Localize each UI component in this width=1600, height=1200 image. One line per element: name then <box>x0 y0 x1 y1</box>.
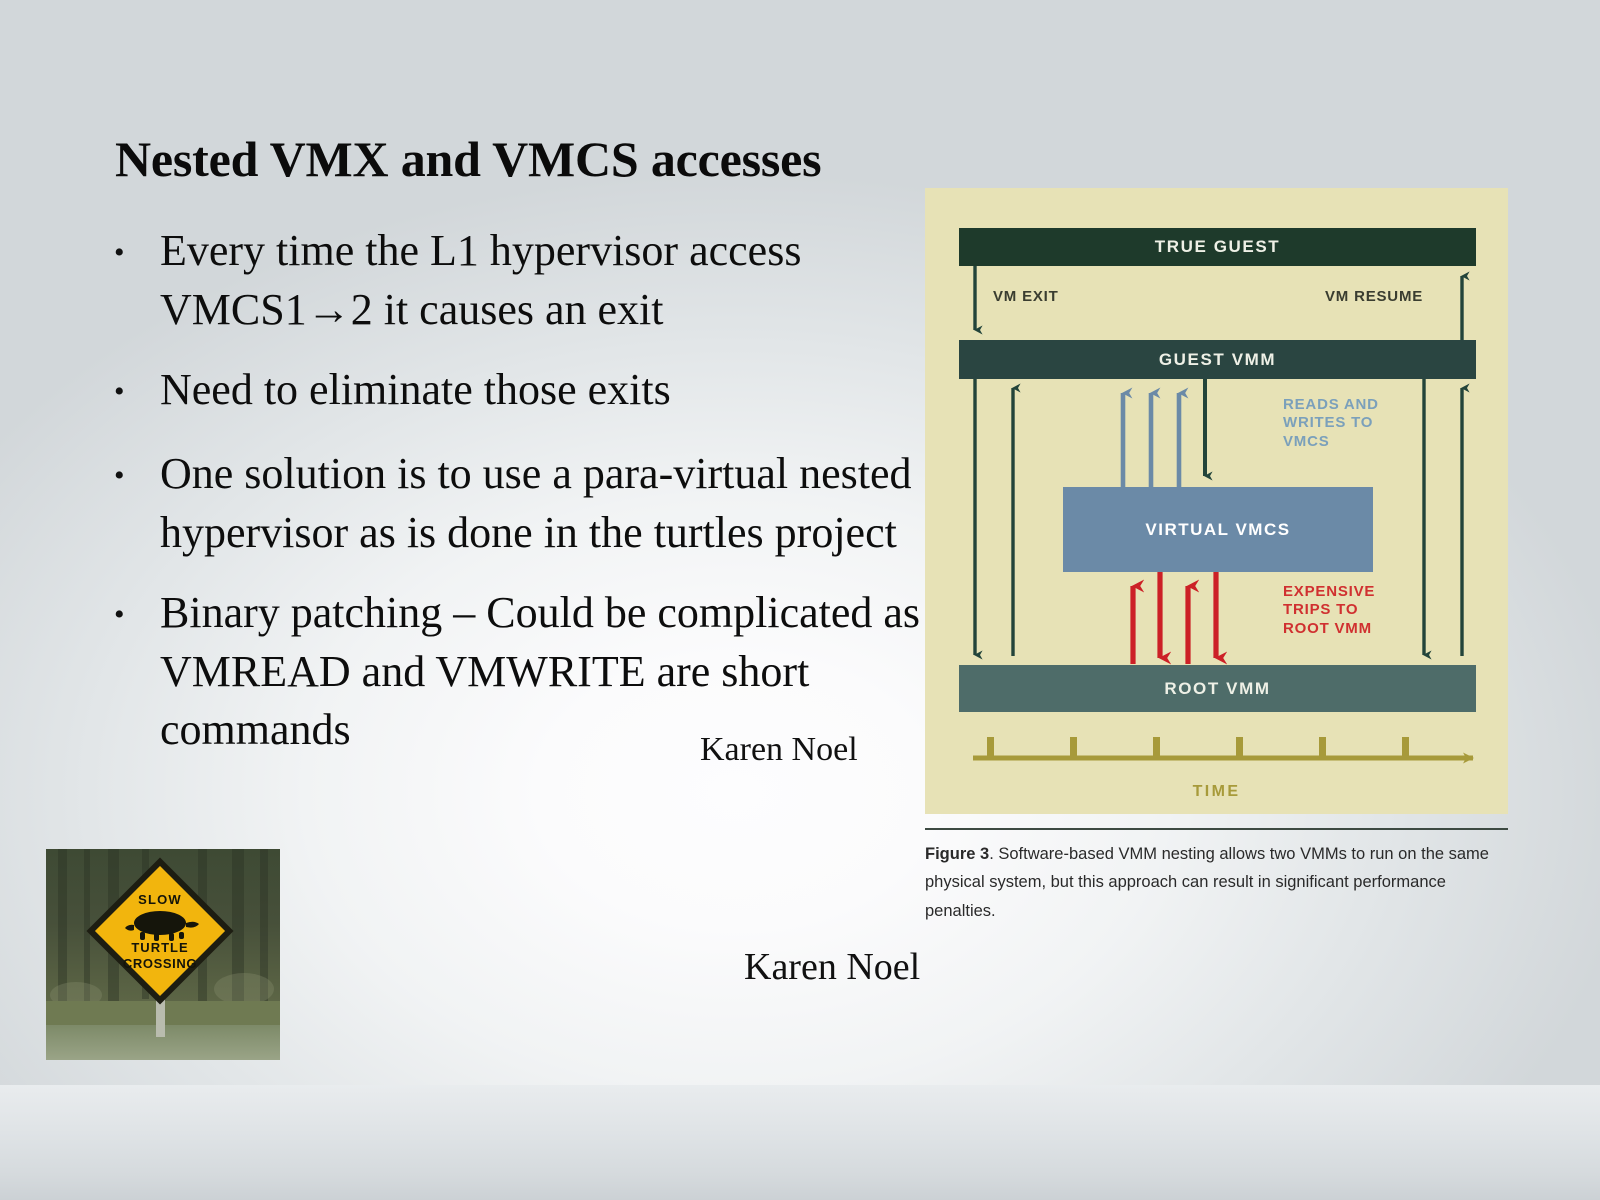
figure-diagram-panel: TRUE GUEST GUEST VMM VIRTUAL VMCS ROOT V… <box>925 188 1508 814</box>
figure-caption: Figure 3. Software-based VMM nesting all… <box>925 828 1508 925</box>
slide-canvas: Nested VMX and VMCS accesses • Every tim… <box>0 0 1600 1200</box>
list-item: • One solution is to use a para-virtual … <box>104 445 934 562</box>
bullet-marker-icon: • <box>104 222 160 284</box>
diagram-label-reads-writes: READS AND WRITES TO VMCS <box>1283 396 1379 451</box>
diagram-label-vm-resume: VM RESUME <box>1325 288 1423 306</box>
redhat-logo: redhat. <box>1432 1104 1572 1156</box>
shadowman-icon <box>1435 1109 1477 1151</box>
diagram-label-vm-exit: VM EXIT <box>993 288 1059 306</box>
turtle-crossing-sign-photo: SLOW TURTLE CROSSING <box>46 849 280 1060</box>
stray-text-overlay-2: Karen Noel <box>744 945 920 989</box>
figure-caption-label: Figure 3 <box>925 845 989 863</box>
diagram-box-virtual-vmcs: VIRTUAL VMCS <box>1063 487 1373 572</box>
diagram-bar-root-vmm: ROOT VMM <box>959 665 1476 712</box>
svg-text:redhat.: redhat. <box>1484 1116 1568 1146</box>
diagram-bar-guest-vmm: GUEST VMM <box>959 340 1476 379</box>
diagram-bar-true-guest: TRUE GUEST <box>959 228 1476 266</box>
svg-text:TURTLE: TURTLE <box>131 940 188 955</box>
bullet-marker-icon: • <box>104 361 160 423</box>
figure-caption-text: . Software-based VMM nesting allows two … <box>925 845 1489 920</box>
bullet-marker-icon: • <box>104 584 160 646</box>
bullet-text: Need to eliminate those exits <box>160 361 934 420</box>
bullet-text: One solution is to use a para-virtual ne… <box>160 445 934 562</box>
list-item: • Every time the L1 hypervisor access VM… <box>104 222 934 339</box>
diagram-label-time: TIME <box>925 783 1508 801</box>
diagram-label-expensive-trips: EXPENSIVE TRIPS TO ROOT VMM <box>1283 583 1375 638</box>
svg-text:CROSSING: CROSSING <box>123 956 197 971</box>
list-item: • Need to eliminate those exits <box>104 361 934 423</box>
page-title: Nested VMX and VMCS accesses <box>115 130 821 188</box>
bullet-marker-icon: • <box>104 445 160 507</box>
stray-text-overlay-1: Karen Noel <box>700 731 858 769</box>
svg-text:SLOW: SLOW <box>138 892 182 907</box>
footer-note: Orit Wasserman - KVM forum 2013 <box>0 1111 1600 1143</box>
figure-3-container: TRUE GUEST GUEST VMM VIRTUAL VMCS ROOT V… <box>925 188 1513 814</box>
bullet-text: Every time the L1 hypervisor access VMCS… <box>160 222 934 339</box>
bullet-list: • Every time the L1 hypervisor access VM… <box>104 222 934 782</box>
